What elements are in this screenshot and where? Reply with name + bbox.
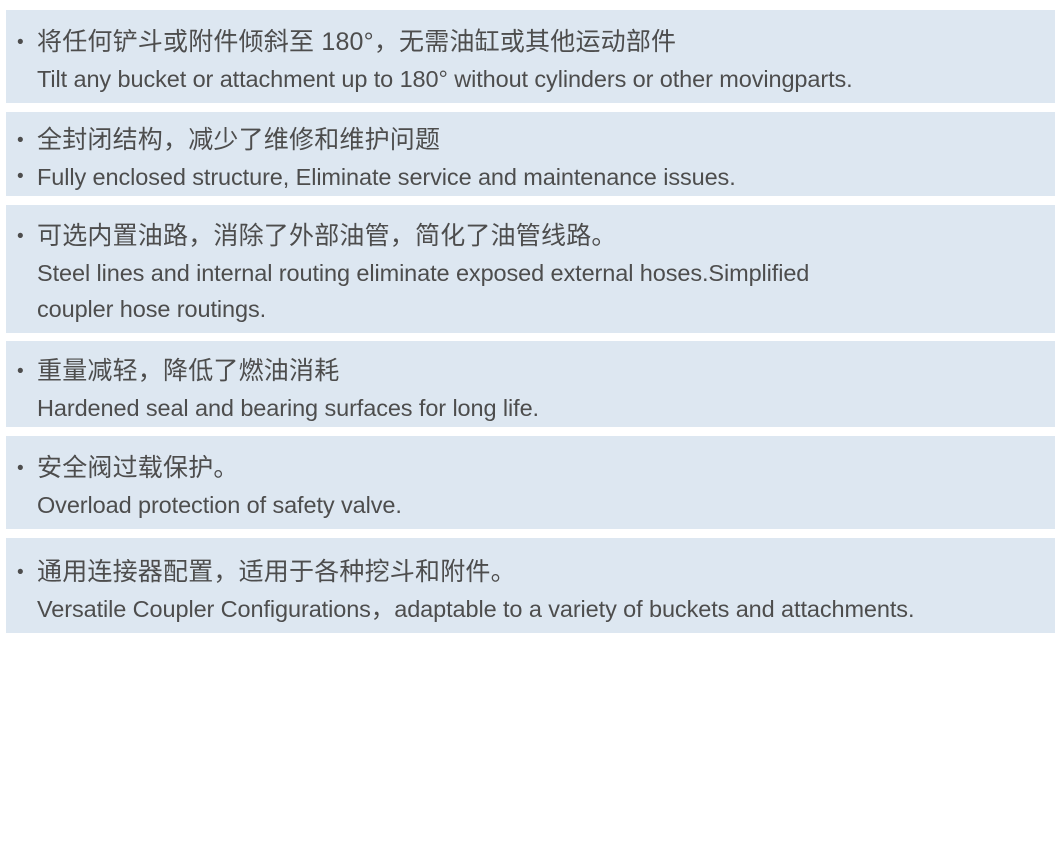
- feature-line: • 重量减轻，降低了燃油消耗: [6, 353, 1055, 390]
- bullet-spacer: •: [6, 591, 37, 627]
- bullet-spacer: •: [6, 61, 37, 97]
- bullet-spacer: •: [6, 291, 37, 327]
- bullet-icon: •: [6, 554, 37, 591]
- feature-line: • 将任何铲斗或附件倾斜至 180°，无需油缸或其他运动部件: [6, 24, 1055, 61]
- feature-line: • Fully enclosed structure, Eliminate se…: [6, 159, 1055, 195]
- feature-text-cn: 通用连接器配置，适用于各种挖斗和附件。: [37, 554, 1055, 591]
- feature-line: • Hardened seal and bearing surfaces for…: [6, 390, 1055, 426]
- feature-text-en: Steel lines and internal routing elimina…: [37, 255, 1055, 291]
- feature-line: • Versatile Coupler Configurations，adapt…: [6, 591, 1055, 627]
- bullet-spacer: •: [6, 255, 37, 291]
- feature-line: • Tilt any bucket or attachment up to 18…: [6, 61, 1055, 97]
- feature-text-cn: 重量减轻，降低了燃油消耗: [37, 353, 1055, 390]
- feature-text-en: Hardened seal and bearing surfaces for l…: [37, 390, 1055, 426]
- bullet-icon: •: [6, 122, 37, 159]
- feature-text-cn: 安全阀过载保护。: [37, 450, 1055, 487]
- feature-line: • 可选内置油路，消除了外部油管，简化了油管线路。: [6, 218, 1055, 255]
- feature-panel: • 通用连接器配置，适用于各种挖斗和附件。 • Versatile Couple…: [6, 538, 1055, 633]
- bullet-icon: •: [6, 159, 37, 195]
- feature-line: • 通用连接器配置，适用于各种挖斗和附件。: [6, 554, 1055, 591]
- feature-text-en: Versatile Coupler Configurations，adaptab…: [37, 591, 1055, 627]
- feature-line: • 全封闭结构，减少了维修和维护问题: [6, 122, 1055, 159]
- feature-text-cn: 将任何铲斗或附件倾斜至 180°，无需油缸或其他运动部件: [37, 24, 1055, 61]
- bullet-icon: •: [6, 353, 37, 390]
- feature-text-en: coupler hose routings.: [37, 291, 1055, 327]
- feature-panel: • 全封闭结构，减少了维修和维护问题 • Fully enclosed stru…: [6, 112, 1055, 196]
- feature-line: • coupler hose routings.: [6, 291, 1055, 327]
- bullet-spacer: •: [6, 390, 37, 426]
- feature-panel: • 可选内置油路，消除了外部油管，简化了油管线路。 • Steel lines …: [6, 205, 1055, 333]
- bullet-icon: •: [6, 24, 37, 61]
- feature-text-en: Fully enclosed structure, Eliminate serv…: [37, 159, 1055, 195]
- bullet-icon: •: [6, 218, 37, 255]
- bullet-spacer: •: [6, 487, 37, 523]
- feature-text-cn: 可选内置油路，消除了外部油管，简化了油管线路。: [37, 218, 1055, 255]
- feature-line: • Overload protection of safety valve.: [6, 487, 1055, 523]
- feature-text-cn: 全封闭结构，减少了维修和维护问题: [37, 122, 1055, 159]
- feature-panel: • 安全阀过载保护。 • Overload protection of safe…: [6, 436, 1055, 529]
- feature-line: • Steel lines and internal routing elimi…: [6, 255, 1055, 291]
- feature-line: • 安全阀过载保护。: [6, 450, 1055, 487]
- bullet-icon: •: [6, 450, 37, 487]
- feature-list: • 将任何铲斗或附件倾斜至 180°，无需油缸或其他运动部件 • Tilt an…: [0, 0, 1061, 865]
- feature-panel: • 将任何铲斗或附件倾斜至 180°，无需油缸或其他运动部件 • Tilt an…: [6, 10, 1055, 103]
- feature-panel: • 重量减轻，降低了燃油消耗 • Hardened seal and beari…: [6, 341, 1055, 427]
- feature-text-en: Tilt any bucket or attachment up to 180°…: [37, 61, 1055, 97]
- feature-text-en: Overload protection of safety valve.: [37, 487, 1055, 523]
